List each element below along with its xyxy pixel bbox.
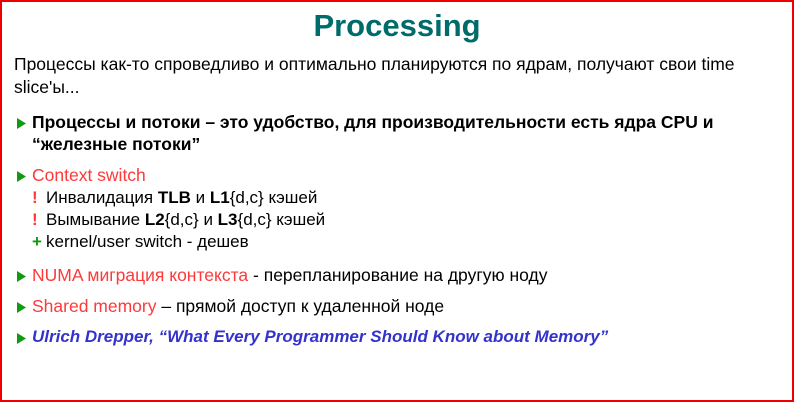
context-switch-heading: Context switch [32,164,778,186]
numa-line: NUMA миграция контекста - перепланирован… [32,264,778,286]
sub-item-tlb-l1-braces: {d,c} [230,188,264,207]
sub-item-tlb-l1-mid: и [191,188,210,207]
shared-memory-line: Shared memory – прямой доступ к удаленно… [32,295,778,317]
green-triangle-icon [16,302,32,313]
sub-item-tlb-l1-bold2: L1 [210,188,230,207]
sub-item-l2-l3-bold2: L3 [218,210,238,229]
sub-item-l2-l3-pre: Вымывание [46,210,145,229]
shared-memory-highlight: Shared memory [32,296,157,316]
warning-marker-icon: ! [32,187,46,209]
slide-title: Processing [2,7,792,45]
plus-marker-icon: + [32,231,46,253]
numa-rest: - перепланирование на другую ноду [248,265,547,285]
sub-item-tlb-l1-pre: Инвалидация [46,188,158,207]
slide-container: Processing Процессы как-то спроведливо и… [0,0,794,402]
sub-item-l2-l3: !Вымывание L2{d,c} и L3{d,c} кэшей [32,209,778,231]
sub-item-l2-l3-braces2: {d,c} [238,210,272,229]
sub-item-tlb-l1-post: кэшей [264,188,318,207]
context-switch-sublist: !Инвалидация TLB и L1{d,c} кэшей !Вымыва… [32,187,778,253]
green-triangle-icon [16,271,32,282]
sub-item-kernel-user-switch-label: kernel/user switch - дешев [46,232,249,251]
bullet-reference: Ulrich Drepper, “What Every Programmer S… [14,326,778,348]
numa-highlight: NUMA миграция контекста [32,265,248,285]
sub-item-l2-l3-mid: и [199,210,218,229]
intro-paragraph: Процессы как-то спроведливо и оптимально… [14,53,774,99]
bullet-processes-threads-label: Процессы и потоки – это удобство, для пр… [32,111,778,155]
green-triangle-icon [16,171,32,182]
slide-body: Процессы как-то спроведливо и оптимально… [2,45,792,348]
sub-item-l2-l3-post: кэшей [272,210,326,229]
bullet-processes-threads: Процессы и потоки – это удобство, для пр… [14,111,778,155]
sub-item-l2-l3-braces1: {d,c} [165,210,199,229]
shared-memory-rest: – прямой доступ к удаленной ноде [157,296,445,316]
bullet-context-switch: Context switch !Инвалидация TLB и L1{d,c… [14,164,778,253]
reference-label: Ulrich Drepper, “What Every Programmer S… [32,326,778,348]
warning-marker-icon: ! [32,209,46,231]
bullet-shared-memory: Shared memory – прямой доступ к удаленно… [14,295,778,317]
context-switch-block: Context switch !Инвалидация TLB и L1{d,c… [32,164,778,253]
sub-item-tlb-l1-bold1: TLB [158,188,191,207]
sub-item-l2-l3-bold1: L2 [145,210,165,229]
green-triangle-icon [16,118,32,129]
green-triangle-icon [16,333,32,344]
sub-item-kernel-user-switch: +kernel/user switch - дешев [32,231,778,253]
bullet-numa-migration: NUMA миграция контекста - перепланирован… [14,264,778,286]
sub-item-tlb-l1: !Инвалидация TLB и L1{d,c} кэшей [32,187,778,209]
